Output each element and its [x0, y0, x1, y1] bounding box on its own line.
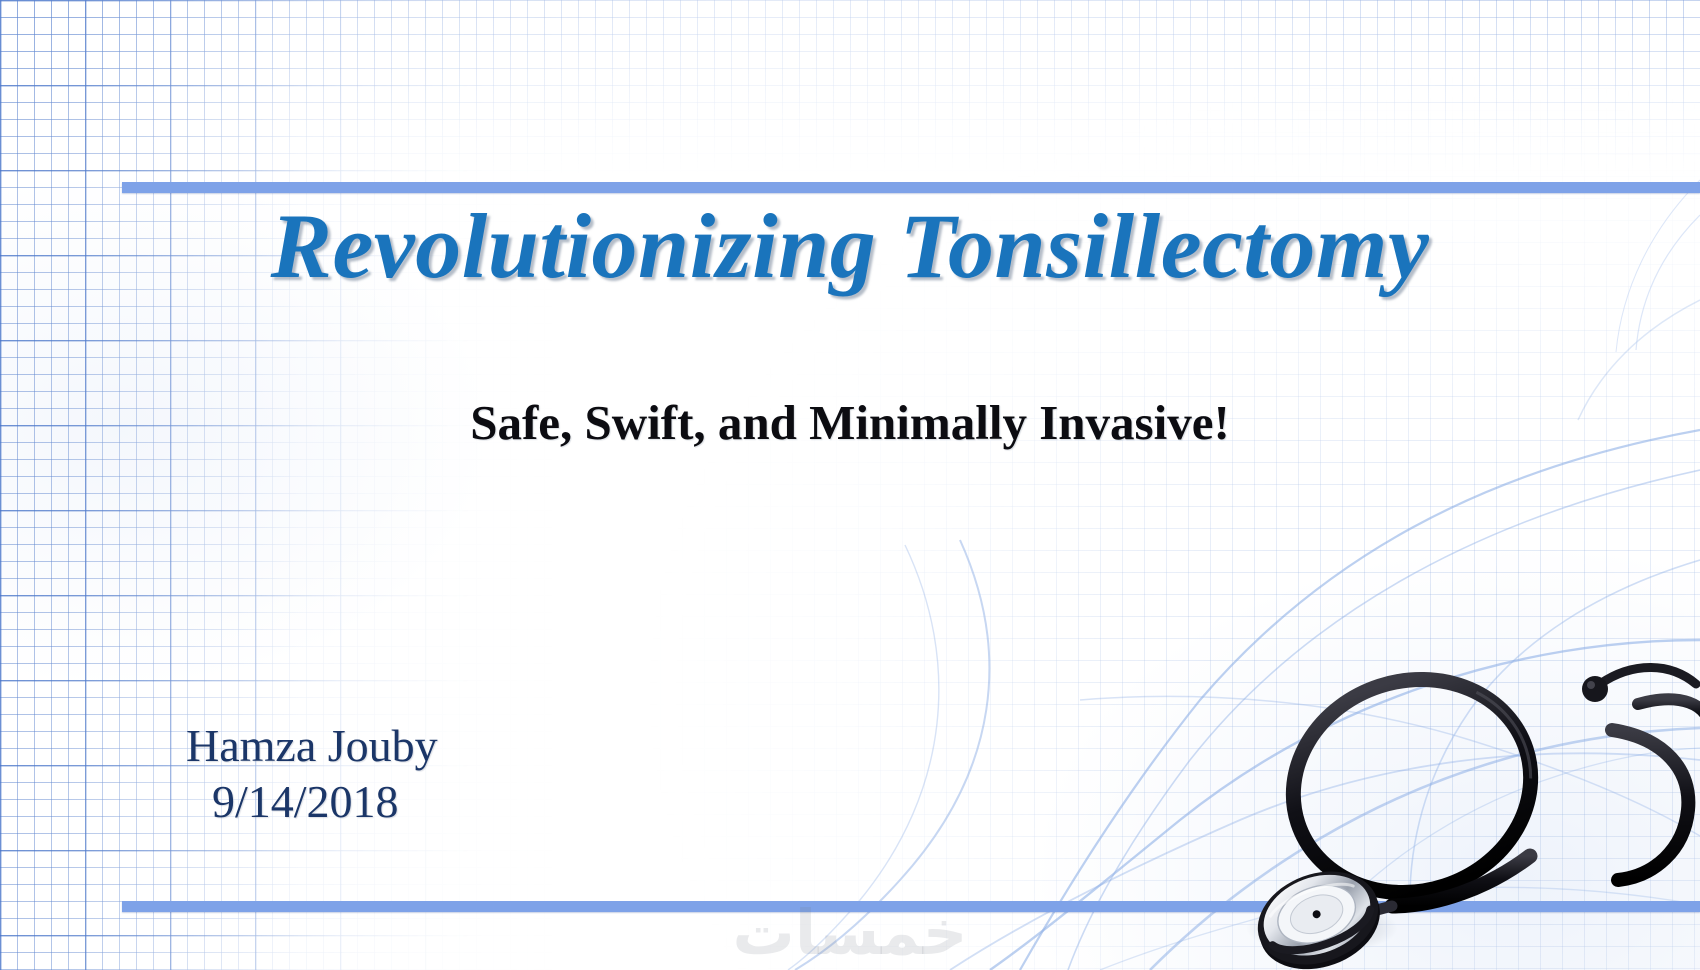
presentation-date: 9/14/2018 [186, 774, 438, 830]
stethoscope-icon [1240, 588, 1700, 970]
page-title: Revolutionizing Tonsillectomy [0, 198, 1700, 296]
top-divider-rule [122, 182, 1700, 193]
page-subtitle: Safe, Swift, and Minimally Invasive! [0, 396, 1700, 450]
presentation-title-slide: Revolutionizing Tonsillectomy Safe, Swif… [0, 0, 1700, 970]
byline: Hamza Jouby 9/14/2018 [186, 718, 438, 830]
author-name: Hamza Jouby [186, 718, 438, 774]
